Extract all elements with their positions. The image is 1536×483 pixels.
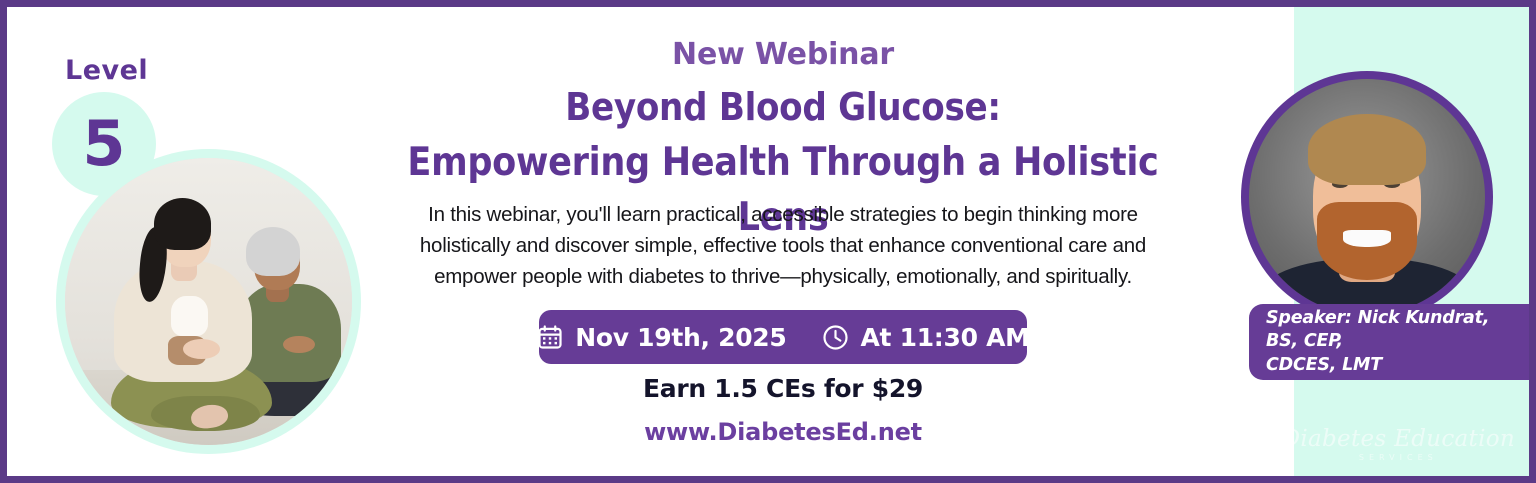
logo-name: Diabetes Education bbox=[1282, 426, 1515, 452]
description-line-3: empower people with diabetes to thrive—p… bbox=[367, 261, 1199, 292]
person-a-hair bbox=[154, 198, 211, 250]
level-label: Level bbox=[65, 55, 148, 86]
person-b-body bbox=[237, 284, 340, 382]
meditation-photo-inner bbox=[65, 158, 352, 445]
speaker-hair bbox=[1308, 114, 1426, 185]
speaker-caption-bar: Speaker: Nick Kundrat, BS, CEP, CDCES, L… bbox=[1249, 304, 1529, 380]
person-a-hand bbox=[183, 339, 220, 359]
date-text: Nov 19th, 2025 bbox=[575, 323, 786, 352]
clock-icon bbox=[821, 323, 850, 352]
title-line-1: Beyond Blood Glucose: bbox=[359, 81, 1207, 135]
speaker-caption: Speaker: Nick Kundrat, BS, CEP, CDCES, L… bbox=[1266, 307, 1519, 376]
person-b-hair bbox=[246, 227, 301, 276]
logo-subtitle: SERVICES bbox=[1282, 453, 1515, 462]
time-text: At 11:30 AM bbox=[861, 323, 1030, 352]
level-number: 5 bbox=[52, 92, 156, 196]
company-logo-watermark: Diabetes Education SERVICES bbox=[1282, 426, 1515, 462]
person-b-hand bbox=[283, 336, 315, 353]
date-time-pill: Nov 19th, 2025 At 11:30 AM bbox=[539, 310, 1027, 364]
kicker-label: New Webinar bbox=[363, 37, 1203, 72]
speaker-caption-line-2: CDCES, LMT bbox=[1266, 354, 1519, 377]
website-url[interactable]: www.DiabetesEd.net bbox=[363, 418, 1203, 446]
description-line-2: holistically and discover simple, effect… bbox=[367, 230, 1199, 261]
speaker-smile bbox=[1343, 230, 1390, 247]
center-content: New Webinar Beyond Blood Glucose: Empowe… bbox=[363, 7, 1203, 476]
speaker-headshot bbox=[1241, 71, 1493, 323]
webinar-promo-banner: Level 5 New Webinar bbox=[0, 0, 1536, 483]
speaker-caption-line-1: Speaker: Nick Kundrat, BS, CEP, bbox=[1266, 307, 1519, 353]
person-a-chest bbox=[171, 296, 208, 336]
date-segment: Nov 19th, 2025 bbox=[536, 323, 786, 352]
time-segment: At 11:30 AM bbox=[821, 323, 1030, 352]
calendar-icon bbox=[536, 323, 564, 351]
webinar-description: In this webinar, you'll learn practical,… bbox=[367, 199, 1199, 292]
speaker-headshot-inner bbox=[1249, 79, 1485, 315]
ce-credit-price: Earn 1.5 CEs for $29 bbox=[363, 374, 1203, 403]
description-line-1: In this webinar, you'll learn practical,… bbox=[367, 199, 1199, 230]
